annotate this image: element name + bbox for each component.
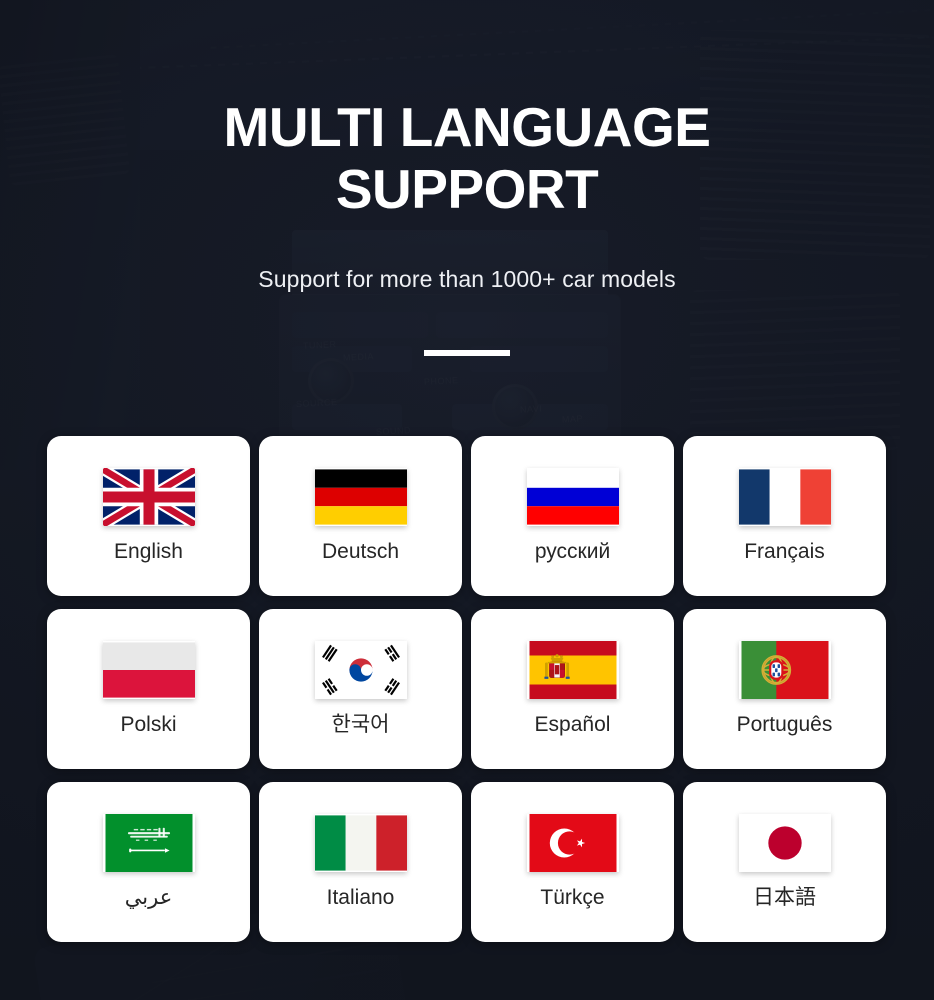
language-label: русский xyxy=(535,540,610,564)
language-card-russian[interactable]: русский xyxy=(471,436,674,596)
language-card-arabic[interactable]: عربي xyxy=(47,782,250,942)
language-card-spanish[interactable]: Español xyxy=(471,609,674,769)
flag-poland-icon xyxy=(103,641,195,699)
page-content: MULTI LANGUAGE SUPPORT Support for more … xyxy=(0,0,934,1000)
language-label: 日本語 xyxy=(753,886,816,910)
flag-united-kingdom-icon xyxy=(103,468,195,526)
language-label: English xyxy=(114,540,183,564)
language-card-korean[interactable]: 한국어 xyxy=(259,609,462,769)
language-card-polish[interactable]: Polski xyxy=(47,609,250,769)
language-card-french[interactable]: Français xyxy=(683,436,886,596)
language-label: Deutsch xyxy=(322,540,399,564)
language-label: عربي xyxy=(125,886,172,910)
language-label: Français xyxy=(744,540,825,564)
language-card-english[interactable]: English xyxy=(47,436,250,596)
language-card-deutsch[interactable]: Deutsch xyxy=(259,436,462,596)
language-label: Español xyxy=(535,713,611,737)
page-title-line-1: MULTI LANGUAGE xyxy=(224,96,711,158)
language-label: 한국어 xyxy=(332,713,390,737)
flag-south-korea-icon xyxy=(315,641,407,699)
language-grid: English Deutsch русский xyxy=(47,436,887,942)
language-card-portuguese[interactable]: Português xyxy=(683,609,886,769)
language-label: Türkçe xyxy=(540,886,604,910)
language-label: Polski xyxy=(120,713,176,737)
language-card-japanese[interactable]: 日本語 xyxy=(683,782,886,942)
language-label: Italiano xyxy=(327,886,395,910)
page-subtitle: Support for more than 1000+ car models xyxy=(0,266,934,293)
flag-turkey-icon xyxy=(527,814,619,872)
language-card-turkish[interactable]: Türkçe xyxy=(471,782,674,942)
language-label: Português xyxy=(737,713,833,737)
flag-japan-icon xyxy=(739,814,831,872)
page-title: MULTI LANGUAGE SUPPORT xyxy=(0,96,934,220)
flag-portugal-icon xyxy=(739,641,831,699)
flag-france-icon xyxy=(739,468,831,526)
flag-saudi-arabia-icon xyxy=(103,814,195,872)
page-title-line-2: SUPPORT xyxy=(336,158,598,220)
flag-spain-icon xyxy=(527,641,619,699)
flag-germany-icon xyxy=(315,468,407,526)
language-card-italian[interactable]: Italiano xyxy=(259,782,462,942)
flag-russia-icon xyxy=(527,468,619,526)
title-divider xyxy=(424,350,510,356)
flag-italy-icon xyxy=(315,814,407,872)
